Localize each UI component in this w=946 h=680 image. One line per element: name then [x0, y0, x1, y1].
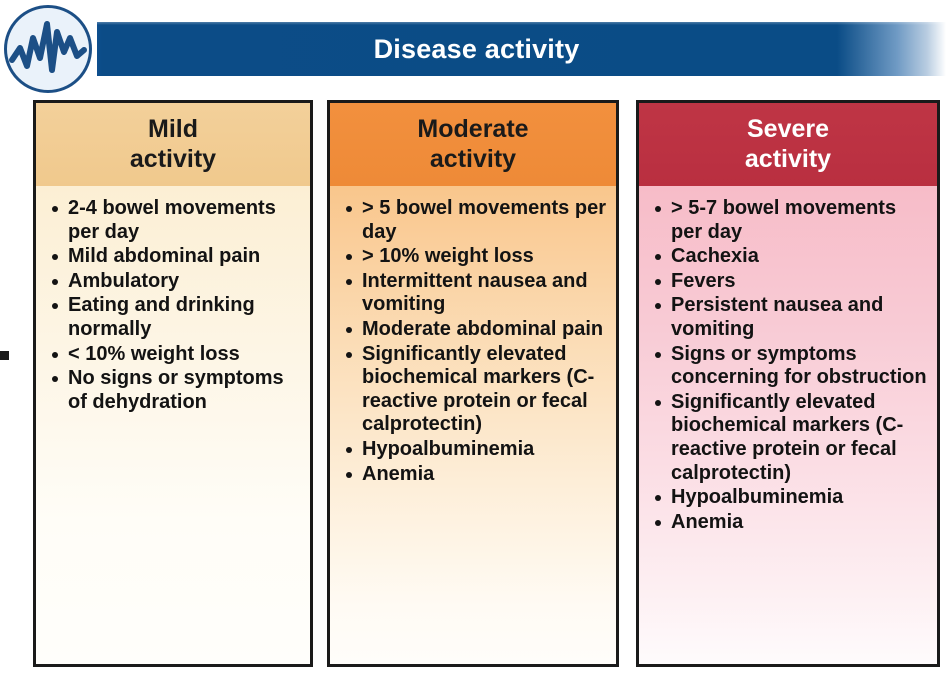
list-item: Hypoalbuminemia	[649, 486, 929, 510]
column-severe-header: Severe activity	[639, 103, 937, 186]
column-severe-title-line1: Severe	[747, 115, 829, 144]
column-moderate-header: Moderate activity	[330, 103, 616, 186]
list-item: < 10% weight loss	[46, 343, 302, 367]
list-item: Persistent nausea and vomiting	[649, 294, 929, 341]
column-mild-title-line1: Mild	[148, 115, 198, 144]
column-mild-list: 2-4 bowel movements per day Mild abdomin…	[46, 197, 302, 414]
banner-bar: Disease activity	[97, 22, 946, 76]
column-mild: Mild activity 2-4 bowel movements per da…	[33, 100, 313, 667]
list-item: 2-4 bowel movements per day	[46, 197, 302, 244]
page-title: Disease activity	[374, 34, 580, 65]
list-item: > 5-7 bowel movements per day	[649, 197, 929, 244]
list-item: Moderate abdominal pain	[340, 318, 608, 342]
list-item: > 5 bowel movements per day	[340, 197, 608, 244]
column-moderate-title-line1: Moderate	[417, 115, 528, 144]
list-item: Signs or symptoms concerning for obstruc…	[649, 343, 929, 390]
ecg-waveform-icon	[4, 5, 92, 93]
list-item: Ambulatory	[46, 270, 302, 294]
list-item: Anemia	[649, 511, 929, 535]
column-mild-header: Mild activity	[36, 103, 310, 186]
activity-columns: Mild activity 2-4 bowel movements per da…	[0, 95, 946, 675]
list-item: Eating and drinking normally	[46, 294, 302, 341]
list-item: Cachexia	[649, 245, 929, 269]
column-moderate-list: > 5 bowel movements per day > 10% weight…	[340, 197, 608, 486]
list-item: > 10% weight loss	[340, 245, 608, 269]
column-moderate-body: > 5 bowel movements per day > 10% weight…	[330, 186, 616, 664]
header-banner: Disease activity	[0, 0, 946, 95]
column-mild-title-line2: activity	[130, 145, 216, 174]
column-severe: Severe activity > 5-7 bowel movements pe…	[636, 100, 940, 667]
list-item: Significantly elevated biochemical marke…	[340, 343, 608, 437]
left-edge-marker	[0, 351, 9, 360]
list-item: Mild abdominal pain	[46, 245, 302, 269]
list-item: Intermittent nausea and vomiting	[340, 270, 608, 317]
column-severe-list: > 5-7 bowel movements per day Cachexia F…	[649, 197, 929, 534]
list-item: No signs or symptoms of dehydration	[46, 367, 302, 414]
list-item: Hypoalbuminemia	[340, 438, 608, 462]
list-item: Fevers	[649, 270, 929, 294]
list-item: Anemia	[340, 463, 608, 487]
column-severe-body: > 5-7 bowel movements per day Cachexia F…	[639, 186, 937, 664]
column-moderate-title-line2: activity	[430, 145, 516, 174]
column-mild-body: 2-4 bowel movements per day Mild abdomin…	[36, 186, 310, 664]
list-item: Significantly elevated biochemical marke…	[649, 391, 929, 485]
column-severe-title-line2: activity	[745, 145, 831, 174]
column-moderate: Moderate activity > 5 bowel movements pe…	[327, 100, 619, 667]
